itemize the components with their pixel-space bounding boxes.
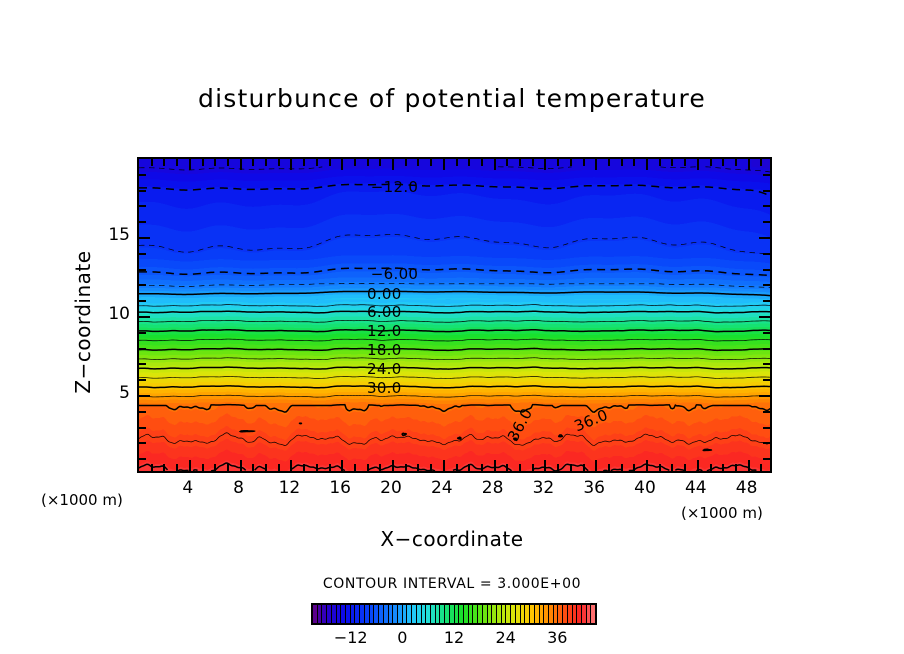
x-tick-top-7 [227,159,229,166]
x-tick-bottom-18 [367,464,369,471]
contour-plot-area[interactable] [137,157,772,473]
x-tick-top-13 [303,159,305,166]
x-tick-bottom-1 [151,464,153,471]
x-tick-bottom-47 [735,464,737,471]
x-tick-bottom-23 [430,464,432,471]
x-tick-top-15 [329,159,331,166]
y-tick-right-12 [763,284,770,286]
y-tick-left-1 [139,458,146,460]
x-tick-bottom-45 [710,464,712,471]
x-axis-unit-label: (×1000 m) [681,504,763,522]
colorbar[interactable] [311,603,597,625]
x-tick-top-23 [430,159,432,166]
x-tick-bottom-24 [443,460,445,471]
x-tick-bottom-22 [417,464,419,471]
y-tick-left-3 [139,427,146,429]
x-tick-top-34 [570,159,572,166]
y-tick-right-5 [759,395,770,397]
y-tick-left-2 [139,442,146,444]
x-tick-top-37 [608,159,610,166]
contour-interval-note: CONTOUR INTERVAL = 3.000E+00 [0,576,904,592]
x-tick-top-32 [544,159,546,170]
y-axis-title: Z−coordinate [71,222,95,422]
y-tick-right-3 [763,427,770,429]
x-tick-top-38 [621,159,623,166]
x-tick-top-10 [265,159,267,166]
y-tick-right-17 [763,205,770,207]
x-tick-top-29 [506,159,508,166]
y-tick-left-11 [139,300,146,302]
x-tick-bottom-6 [214,464,216,471]
y-tick-label-15: 15 [98,225,130,245]
x-tick-top-16 [341,159,343,170]
x-tick-bottom-36 [595,460,597,471]
x-tick-top-25 [456,159,458,166]
x-tick-bottom-27 [481,464,483,471]
x-tick-top-31 [532,159,534,166]
x-tick-top-45 [710,159,712,166]
x-axis-title: X−coordinate [0,527,904,551]
x-tick-top-30 [519,159,521,166]
x-tick-bottom-25 [456,464,458,471]
x-tick-top-1 [151,159,153,166]
x-tick-top-8 [240,159,242,170]
x-tick-bottom-20 [392,460,394,471]
x-tick-bottom-9 [252,464,254,471]
x-tick-bottom-10 [265,464,267,471]
x-tick-bottom-3 [176,464,178,471]
colorbar-tick-label-3: 24 [483,628,529,647]
x-tick-bottom-42 [671,464,673,471]
contour-label-120: −12.0 [371,178,418,196]
x-tick-bottom-14 [316,464,318,471]
x-tick-label-12: 12 [269,478,309,498]
x-tick-bottom-7 [227,464,229,471]
contour-label-120: 12.0 [367,322,402,340]
x-tick-label-44: 44 [676,478,716,498]
x-tick-label-48: 48 [727,478,767,498]
y-tick-left-17 [139,205,146,207]
x-tick-top-48 [748,159,750,170]
x-tick-bottom-11 [278,464,280,471]
contour-label-240: 24.0 [367,360,402,378]
x-tick-bottom-37 [608,464,610,471]
x-tick-bottom-28 [494,460,496,471]
x-tick-bottom-12 [290,460,292,471]
x-tick-bottom-41 [659,464,661,471]
x-tick-top-28 [494,159,496,170]
contour-label-600: −6.00 [371,265,418,283]
y-tick-left-12 [139,284,146,286]
y-tick-left-13 [139,269,146,271]
contour-label-300: 30.0 [367,379,402,397]
page-title: disturbunce of potential temperature [0,84,904,113]
contour-label-000: 0.00 [367,285,402,303]
x-tick-bottom-21 [405,464,407,471]
x-tick-top-20 [392,159,394,170]
x-tick-bottom-16 [341,460,343,471]
y-tick-left-4 [139,411,146,413]
x-tick-top-14 [316,159,318,166]
x-tick-bottom-26 [468,464,470,471]
contour-field-canvas [139,159,770,471]
x-tick-top-40 [646,159,648,170]
x-tick-bottom-39 [633,464,635,471]
x-tick-top-4 [189,159,191,170]
x-tick-bottom-19 [379,464,381,471]
y-tick-left-7 [139,363,146,365]
x-tick-top-11 [278,159,280,166]
x-tick-top-49 [760,159,762,166]
x-tick-label-16: 16 [320,478,360,498]
y-tick-left-14 [139,253,146,255]
x-tick-top-47 [735,159,737,166]
x-tick-top-27 [481,159,483,166]
x-tick-label-40: 40 [625,478,665,498]
x-tick-label-28: 28 [473,478,513,498]
x-tick-top-26 [468,159,470,166]
y-tick-right-10 [759,316,770,318]
x-tick-bottom-43 [684,464,686,471]
y-tick-right-7 [763,363,770,365]
x-tick-top-33 [557,159,559,166]
y-tick-right-2 [763,442,770,444]
x-tick-bottom-38 [621,464,623,471]
x-tick-top-5 [202,159,204,166]
y-tick-right-9 [763,332,770,334]
x-tick-bottom-48 [748,460,750,471]
x-tick-bottom-8 [240,460,242,471]
y-tick-right-13 [763,269,770,271]
colorbar-tick-label-4: 36 [534,628,580,647]
y-tick-left-19 [139,174,146,176]
x-tick-top-42 [671,159,673,166]
colorbar-tick-label-0: −12 [328,628,374,647]
x-tick-label-32: 32 [523,478,563,498]
x-tick-label-20: 20 [371,478,411,498]
x-tick-label-24: 24 [422,478,462,498]
y-tick-left-18 [139,190,146,192]
y-tick-right-14 [763,253,770,255]
y-tick-right-1 [763,458,770,460]
x-tick-top-22 [417,159,419,166]
y-tick-right-8 [763,348,770,350]
x-tick-bottom-4 [189,460,191,471]
contour-label-600: 6.00 [367,303,402,321]
y-tick-left-5 [139,395,150,397]
x-tick-top-18 [367,159,369,166]
x-tick-top-2 [163,159,165,166]
y-tick-right-18 [763,190,770,192]
x-tick-bottom-44 [697,460,699,471]
x-tick-top-24 [443,159,445,170]
y-tick-left-8 [139,348,146,350]
x-tick-label-36: 36 [574,478,614,498]
x-tick-bottom-34 [570,464,572,471]
x-tick-top-46 [722,159,724,166]
y-tick-right-6 [763,379,770,381]
x-tick-bottom-17 [354,464,356,471]
x-tick-top-21 [405,159,407,166]
x-tick-bottom-33 [557,464,559,471]
x-tick-top-9 [252,159,254,166]
x-tick-bottom-35 [583,464,585,471]
x-tick-bottom-29 [506,464,508,471]
y-tick-left-16 [139,221,146,223]
y-tick-label-10: 10 [98,304,130,324]
x-tick-top-43 [684,159,686,166]
x-tick-top-35 [583,159,585,166]
x-tick-top-3 [176,159,178,166]
x-tick-top-36 [595,159,597,170]
y-tick-right-15 [759,237,770,239]
contour-label-180: 18.0 [367,341,402,359]
x-tick-bottom-30 [519,464,521,471]
x-tick-label-4: 4 [168,478,208,498]
y-tick-right-11 [763,300,770,302]
colorbar-tick-label-1: 0 [379,628,425,647]
x-tick-top-12 [290,159,292,170]
x-tick-top-6 [214,159,216,166]
x-tick-bottom-49 [760,464,762,471]
colorbar-tick-label-2: 12 [431,628,477,647]
y-axis-unit-label: (×1000 m) [41,491,123,509]
y-tick-left-9 [139,332,146,334]
y-tick-left-15 [139,237,150,239]
x-tick-top-17 [354,159,356,166]
y-tick-left-6 [139,379,146,381]
x-tick-bottom-46 [722,464,724,471]
x-tick-top-41 [659,159,661,166]
x-tick-top-44 [697,159,699,170]
x-tick-bottom-31 [532,464,534,471]
y-tick-right-19 [763,174,770,176]
x-tick-top-39 [633,159,635,166]
x-tick-bottom-15 [329,464,331,471]
y-tick-right-4 [763,411,770,413]
x-tick-bottom-5 [202,464,204,471]
y-tick-left-10 [139,316,150,318]
colorbar-cell [591,605,595,623]
y-tick-label-5: 5 [98,383,130,403]
x-tick-bottom-2 [163,464,165,471]
x-tick-bottom-40 [646,460,648,471]
x-tick-top-19 [379,159,381,166]
y-tick-right-16 [763,221,770,223]
x-tick-bottom-13 [303,464,305,471]
x-tick-bottom-32 [544,460,546,471]
x-tick-label-8: 8 [219,478,259,498]
